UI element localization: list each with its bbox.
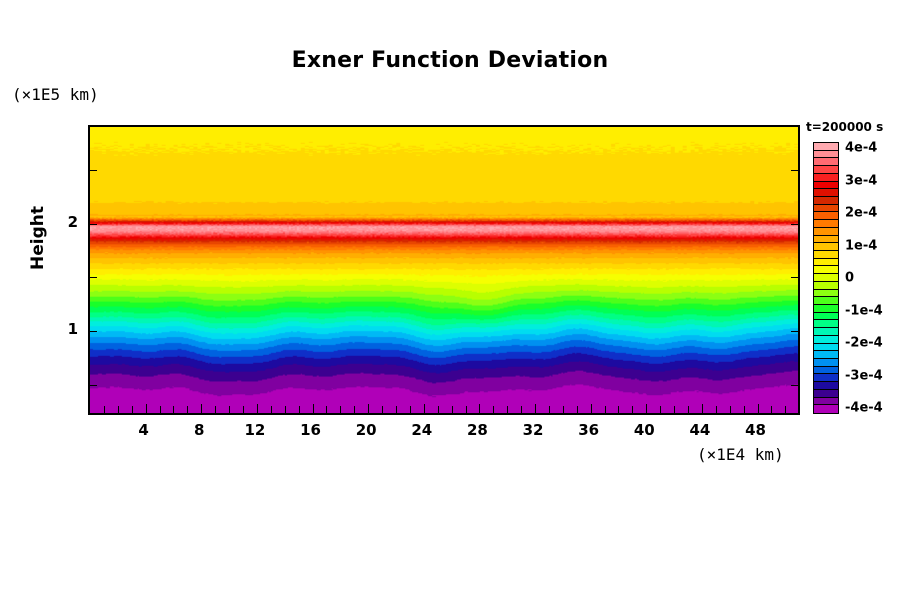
colorbar-swatch xyxy=(814,243,838,251)
colorbar-swatch xyxy=(814,320,838,328)
x-tick xyxy=(730,406,731,413)
colorbar-swatch xyxy=(814,251,838,259)
colorbar-tick-label: -3e-4 xyxy=(845,368,883,383)
x-tick xyxy=(466,406,467,413)
x-tick xyxy=(785,406,786,413)
colorbar-swatch xyxy=(814,282,838,290)
x-tick xyxy=(744,406,745,413)
colorbar-swatch xyxy=(814,166,838,174)
x-tick xyxy=(160,406,161,413)
x-tick xyxy=(271,406,272,413)
x-tick xyxy=(438,406,439,413)
x-tick xyxy=(535,404,536,413)
x-tick xyxy=(563,406,564,413)
y-axis-title-text: Height xyxy=(28,203,48,273)
x-tick xyxy=(354,406,355,413)
y-tick xyxy=(90,385,97,386)
colorbar-tick-label: -4e-4 xyxy=(845,401,883,416)
x-tick xyxy=(201,404,202,413)
colorbar-swatch xyxy=(814,398,838,406)
x-tick xyxy=(104,406,105,413)
contour-field xyxy=(90,127,798,413)
x-tick-label: 32 xyxy=(523,421,544,439)
x-tick xyxy=(521,406,522,413)
x-tick-label: 16 xyxy=(300,421,321,439)
x-tick xyxy=(771,406,772,413)
y-tick-label: 1 xyxy=(62,320,78,338)
x-tick xyxy=(493,406,494,413)
x-tick xyxy=(173,406,174,413)
y-axis-units-label: (×1E5 km) xyxy=(12,85,99,104)
y-tick xyxy=(791,224,798,225)
y-tick xyxy=(90,170,97,171)
y-tick-label: 2 xyxy=(62,213,78,231)
x-tick xyxy=(285,406,286,413)
colorbar-swatch xyxy=(814,297,838,305)
colorbar-swatch xyxy=(814,151,838,159)
colorbar-swatch xyxy=(814,259,838,267)
x-tick xyxy=(146,404,147,413)
x-tick xyxy=(591,404,592,413)
x-tick xyxy=(299,406,300,413)
x-tick xyxy=(215,406,216,413)
x-tick-label: 48 xyxy=(745,421,766,439)
colorbar-swatch xyxy=(814,266,838,274)
x-tick-label: 4 xyxy=(138,421,148,439)
y-tick xyxy=(90,331,97,332)
colorbar-tick-label: 1e-4 xyxy=(845,238,877,253)
colorbar-swatch xyxy=(814,189,838,197)
contour-plot-area[interactable] xyxy=(88,125,800,415)
colorbar-swatch xyxy=(814,290,838,298)
x-tick xyxy=(660,406,661,413)
figure-canvas: Exner Function Deviation (×1E5 km) (×1E4… xyxy=(0,0,900,600)
x-tick-label: 20 xyxy=(356,421,377,439)
x-tick xyxy=(118,406,119,413)
x-tick xyxy=(452,406,453,413)
colorbar-swatch xyxy=(814,197,838,205)
x-axis-units-label: (×1E4 km) xyxy=(697,445,784,464)
x-tick xyxy=(716,406,717,413)
colorbar-tick-label: 0 xyxy=(845,271,854,286)
x-tick xyxy=(229,406,230,413)
x-tick xyxy=(799,406,800,413)
time-annotation: t=200000 s xyxy=(806,120,883,134)
page-title: Exner Function Deviation xyxy=(0,48,900,73)
x-tick xyxy=(313,404,314,413)
y-tick xyxy=(791,277,798,278)
colorbar-tick-label: -2e-4 xyxy=(845,336,883,351)
colorbar-tick-label: 4e-4 xyxy=(845,141,877,156)
colorbar-swatch xyxy=(814,359,838,367)
x-tick xyxy=(507,406,508,413)
colorbar-tick-label: 3e-4 xyxy=(845,173,877,188)
colorbar-swatch xyxy=(814,143,838,151)
colorbar[interactable] xyxy=(813,142,839,414)
colorbar-swatch xyxy=(814,374,838,382)
y-tick xyxy=(90,224,97,225)
colorbar-swatch xyxy=(814,305,838,313)
colorbar-swatch xyxy=(814,274,838,282)
x-tick xyxy=(479,404,480,413)
x-tick xyxy=(187,406,188,413)
x-tick xyxy=(340,406,341,413)
x-tick xyxy=(424,404,425,413)
x-tick xyxy=(243,406,244,413)
x-tick xyxy=(368,404,369,413)
x-tick xyxy=(674,406,675,413)
y-tick xyxy=(90,277,97,278)
colorbar-swatch xyxy=(814,367,838,375)
x-tick-label: 44 xyxy=(689,421,710,439)
colorbar-swatch xyxy=(814,313,838,321)
colorbar-swatch xyxy=(814,390,838,398)
x-tick-label: 12 xyxy=(244,421,265,439)
x-tick xyxy=(382,406,383,413)
x-tick xyxy=(257,404,258,413)
y-tick xyxy=(791,331,798,332)
colorbar-swatch xyxy=(814,405,838,413)
x-tick xyxy=(758,404,759,413)
x-tick xyxy=(549,406,550,413)
x-tick xyxy=(577,406,578,413)
colorbar-swatch xyxy=(814,382,838,390)
colorbar-swatch xyxy=(814,351,838,359)
colorbar-swatch xyxy=(814,328,838,336)
colorbar-swatch xyxy=(814,182,838,190)
x-tick-label: 28 xyxy=(467,421,488,439)
colorbar-swatch xyxy=(814,228,838,236)
y-tick xyxy=(791,385,798,386)
x-tick-label: 8 xyxy=(194,421,204,439)
x-tick xyxy=(632,406,633,413)
y-tick xyxy=(791,170,798,171)
colorbar-swatch xyxy=(814,336,838,344)
x-tick xyxy=(410,406,411,413)
colorbar-swatch xyxy=(814,174,838,182)
x-tick-label: 24 xyxy=(411,421,432,439)
x-tick xyxy=(326,406,327,413)
colorbar-swatch xyxy=(814,158,838,166)
x-tick-label: 36 xyxy=(578,421,599,439)
x-tick xyxy=(605,406,606,413)
x-tick-label: 40 xyxy=(634,421,655,439)
x-tick xyxy=(618,406,619,413)
x-tick xyxy=(688,406,689,413)
colorbar-swatch xyxy=(814,220,838,228)
x-tick xyxy=(702,404,703,413)
colorbar-swatch xyxy=(814,344,838,352)
colorbar-swatch xyxy=(814,205,838,213)
x-tick xyxy=(132,406,133,413)
x-tick xyxy=(396,406,397,413)
colorbar-swatch xyxy=(814,212,838,220)
colorbar-tick-label: 2e-4 xyxy=(845,206,877,221)
colorbar-swatch xyxy=(814,236,838,244)
x-tick xyxy=(646,404,647,413)
colorbar-tick-label: -1e-4 xyxy=(845,303,883,318)
